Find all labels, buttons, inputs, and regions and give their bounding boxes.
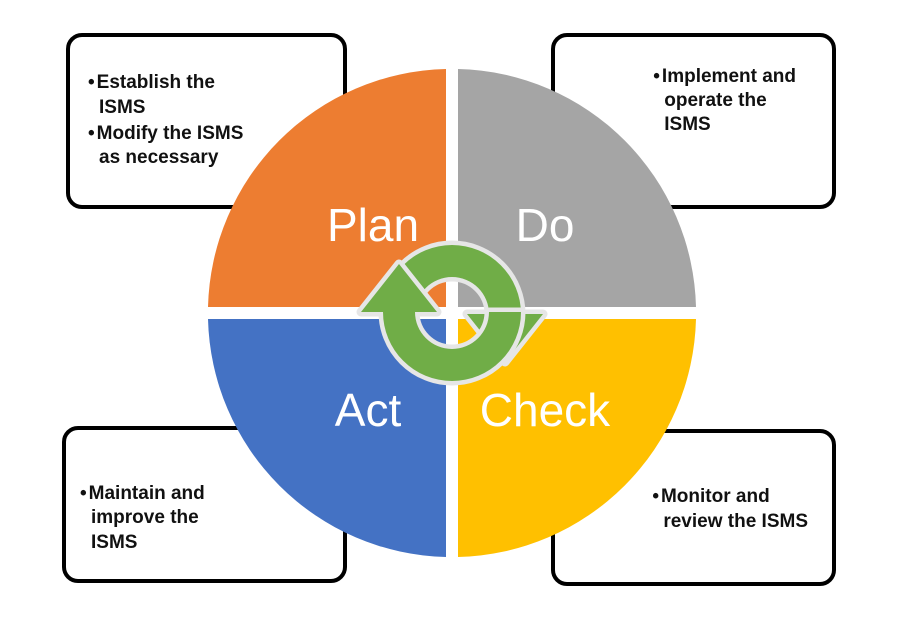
- pdca-diagram-canvas: Establish the ISMS Modify the ISMS as ne…: [0, 0, 900, 631]
- quadrant-label-do: Do: [516, 199, 575, 251]
- quadrant-label-plan: Plan: [327, 199, 419, 251]
- pdca-wheel: Plan Do Act Check: [205, 66, 699, 560]
- quadrant-label-check: Check: [480, 384, 611, 436]
- quadrant-label-act: Act: [335, 384, 402, 436]
